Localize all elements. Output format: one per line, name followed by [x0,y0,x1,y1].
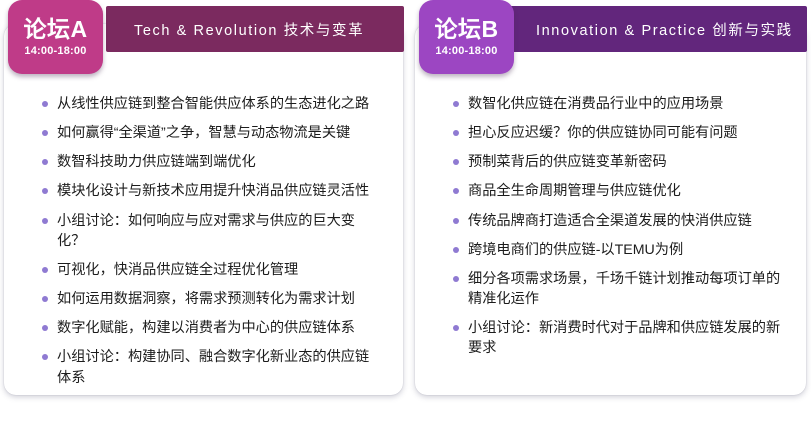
list-item: 担心反应迟缓？你的供应链协同可能有问题 [453,123,786,143]
bullet-icon [453,325,459,331]
list-item: 小组讨论：新消费时代对于品牌和供应链发展的新要求 [453,318,786,358]
list-item: 小组讨论：如何响应与应对需求与供应的巨大变化？ [42,211,383,251]
bullet-icon [42,188,48,194]
topic-text: 商品全生命周期管理与供应链优化 [468,183,681,199]
forum-card-b: Innovation & Practice 创新与实践 论坛B 14:00-18… [415,24,806,395]
forum-a-badge: 论坛A 14:00-18:00 [8,0,103,74]
bullet-icon [453,218,459,224]
list-item: 可视化，快消品供应链全过程优化管理 [42,260,383,280]
forum-a-header-bar: Tech & Revolution 技术与变革 [106,6,404,52]
topic-text: 模块化设计与新技术应用提升快消品供应链灵活性 [57,183,369,199]
list-item: 商品全生命周期管理与供应链优化 [453,181,786,201]
topic-text: 传统品牌商打造适合全渠道发展的快消供应链 [468,213,752,229]
topic-text: 数智化供应链在消费品行业中的应用场景 [468,96,723,112]
bullet-icon [453,188,459,194]
list-item: 预制菜背后的供应链变革新密码 [453,152,786,172]
bullet-icon [42,101,48,107]
list-item: 跨境电商们的供应链-以TEMU为例 [453,240,786,260]
topic-text: 数字化赋能，构建以消费者为中心的供应链体系 [57,320,355,336]
list-item: 从线性供应链到整合智能供应体系的生态进化之路 [42,94,383,114]
list-item: 传统品牌商打造适合全渠道发展的快消供应链 [453,211,786,231]
topic-text: 小组讨论：如何响应与应对需求与供应的巨大变化？ [57,213,355,249]
topic-text: 细分各项需求场景，千场千链计划推动每项订单的精准化运作 [468,271,780,307]
forum-b-header-title: Innovation & Practice 创新与实践 [508,19,793,40]
list-item: 如何运用数据洞察，将需求预测转化为需求计划 [42,289,383,309]
bullet-icon [453,247,459,253]
topic-text: 可视化，快消品供应链全过程优化管理 [57,262,298,278]
bullet-icon [42,130,48,136]
topic-text: 小组讨论：构建协同、融合数字化新业态的供应链体系 [57,349,369,385]
topic-text: 担心反应迟缓？你的供应链协同可能有问题 [468,125,738,141]
forum-b-header-bar: Innovation & Practice 创新与实践 [508,6,807,52]
slide-canvas: Tech & Revolution 技术与变革 论坛A 14:00-18:00 … [0,0,811,423]
bullet-icon [453,101,459,107]
forum-b-badge-time: 14:00-18:00 [435,45,497,57]
bullet-icon [42,159,48,165]
forum-b-badge: 论坛B 14:00-18:00 [419,0,514,74]
forum-a-topic-list: 从线性供应链到整合智能供应体系的生态进化之路 如何赢得“全渠道”之争，智慧与动态… [4,94,403,397]
topic-text: 从线性供应链到整合智能供应体系的生态进化之路 [57,96,369,112]
forum-b-badge-label: 论坛B [434,17,498,41]
bullet-icon [42,296,48,302]
bullet-icon [453,130,459,136]
forum-card-a: Tech & Revolution 技术与变革 论坛A 14:00-18:00 … [4,24,403,395]
bullet-icon [42,354,48,360]
list-item: 小组讨论：构建协同、融合数字化新业态的供应链体系 [42,347,383,387]
topic-text: 跨境电商们的供应链-以TEMU为例 [468,242,683,258]
bullet-icon [453,159,459,165]
forum-a-header-title: Tech & Revolution 技术与变革 [106,19,364,40]
forum-a-badge-time: 14:00-18:00 [24,45,86,57]
list-item: 模块化设计与新技术应用提升快消品供应链灵活性 [42,181,383,201]
forum-b-topic-list: 数智化供应链在消费品行业中的应用场景 担心反应迟缓？你的供应链协同可能有问题 预… [415,94,806,368]
bullet-icon [42,325,48,331]
list-item: 细分各项需求场景，千场千链计划推动每项订单的精准化运作 [453,269,786,309]
bullet-icon [42,267,48,273]
list-item: 数智化供应链在消费品行业中的应用场景 [453,94,786,114]
bullet-icon [42,218,48,224]
bullet-icon [453,276,459,282]
list-item: 如何赢得“全渠道”之争，智慧与动态物流是关键 [42,123,383,143]
list-item: 数字化赋能，构建以消费者为中心的供应链体系 [42,318,383,338]
topic-text: 数智科技助力供应链端到端优化 [57,154,256,170]
topic-text: 小组讨论：新消费时代对于品牌和供应链发展的新要求 [468,320,780,356]
topic-text: 如何运用数据洞察，将需求预测转化为需求计划 [57,291,355,307]
topic-text: 预制菜背后的供应链变革新密码 [468,154,667,170]
list-item: 数智科技助力供应链端到端优化 [42,152,383,172]
forum-a-badge-label: 论坛A [23,17,87,41]
topic-text: 如何赢得“全渠道”之争，智慧与动态物流是关键 [57,125,350,141]
